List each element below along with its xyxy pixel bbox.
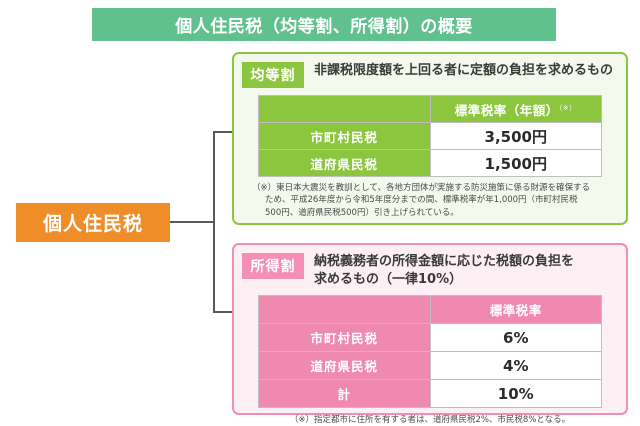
table-row: 標準税率（年額）（※）: [259, 96, 602, 123]
table-wrap-per-capita: 標準税率（年額）（※） 市町村民税 3,500円 道府県民税 1,500円: [234, 88, 626, 177]
table-row: 計 10%: [259, 380, 602, 408]
row-label-municipal: 市町村民税: [259, 123, 431, 150]
footnote-per-capita: （※）東日本大震災を教訓として、各地方団体が実施する防災施策に係る財源を確保する…: [234, 177, 626, 219]
row-value-municipal: 6%: [430, 324, 602, 352]
row-value-prefectural: 1,500円: [430, 150, 602, 177]
main-category-box: 個人住民税: [16, 203, 170, 242]
row-value-prefectural: 4%: [430, 352, 602, 380]
section-description-line: 納税義務者の所得金額に応じた税額の負担を: [314, 253, 618, 271]
row-label-prefectural: 道府県民税: [259, 352, 431, 380]
diagram-root: 個人住民税（均等割、所得割）の概要 個人住民税 均等割 非課税限度額を上回る者に…: [0, 0, 640, 425]
footnote-line: （※）指定都市に住所を有する者は、道府県民税2%、市民税8%となる。: [290, 415, 570, 425]
table-row: 標準税率: [259, 296, 602, 324]
section-description-per-capita: 非課税限度額を上回る者に定額の負担を求めるもの: [304, 62, 618, 80]
footnote-line: （※）東日本大震災を教訓として、各地方団体が実施する防災施策に係る財源を確保する: [252, 182, 612, 194]
table-corner-cell: [259, 296, 431, 324]
footnote-line: 500円、道府県民税500円）引き上げられている。: [252, 207, 612, 219]
table-corner-cell: [259, 96, 431, 123]
section-description-line: 求めるもの（一律10%）: [314, 271, 618, 289]
footnote-income-based: （※）指定都市に住所を有する者は、道府県民税2%、市民税8%となる。: [234, 408, 626, 426]
section-header-income-based: 所得割 納税義務者の所得金額に応じた税額の負担を 求めるもの（一律10%）: [234, 245, 626, 288]
main-category-label: 個人住民税: [43, 209, 143, 236]
page-title-bar: 個人住民税（均等割、所得割）の概要: [92, 8, 556, 41]
row-label-municipal: 市町村民税: [259, 324, 431, 352]
table-row: 道府県民税 1,500円: [259, 150, 602, 177]
section-tag-per-capita: 均等割: [242, 62, 304, 88]
section-description-income-based: 納税義務者の所得金額に応じた税額の負担を 求めるもの（一律10%）: [304, 253, 618, 288]
table-header-rate: 標準税率（年額）（※）: [430, 96, 602, 123]
table-row: 道府県民税 4%: [259, 352, 602, 380]
table-row: 市町村民税 6%: [259, 324, 602, 352]
table-header-footnote-mark: （※）: [559, 103, 577, 111]
section-description-line: 非課税限度額を上回る者に定額の負担を求めるもの: [314, 62, 618, 80]
footnote-line: ため、平成26年度から令和5年度分までの間、標準税率が年1,000円（市町村民税: [252, 194, 612, 206]
table-wrap-income-based: 標準税率 市町村民税 6% 道府県民税 4% 計 10%: [234, 288, 626, 408]
row-label-prefectural: 道府県民税: [259, 150, 431, 177]
section-tag-income-based: 所得割: [242, 253, 304, 279]
tax-table-per-capita: 標準税率（年額）（※） 市町村民税 3,500円 道府県民税 1,500円: [258, 95, 602, 177]
section-panel-income-based: 所得割 納税義務者の所得金額に応じた税額の負担を 求めるもの（一律10%） 標準…: [232, 243, 628, 415]
table-header-rate-text: 標準税率（年額）: [455, 103, 559, 118]
connector-stem: [170, 221, 214, 223]
row-value-municipal: 3,500円: [430, 123, 602, 150]
connector-vertical: [213, 131, 215, 313]
table-row: 市町村民税 3,500円: [259, 123, 602, 150]
section-header-per-capita: 均等割 非課税限度額を上回る者に定額の負担を求めるもの: [234, 54, 626, 88]
tax-table-income-based: 標準税率 市町村民税 6% 道府県民税 4% 計 10%: [258, 295, 602, 408]
section-panel-per-capita: 均等割 非課税限度額を上回る者に定額の負担を求めるもの 標準税率（年額）（※） …: [232, 52, 628, 225]
table-header-rate: 標準税率: [430, 296, 602, 324]
row-label-total: 計: [259, 380, 431, 408]
page-title: 個人住民税（均等割、所得割）の概要: [175, 12, 473, 37]
row-value-total: 10%: [430, 380, 602, 408]
